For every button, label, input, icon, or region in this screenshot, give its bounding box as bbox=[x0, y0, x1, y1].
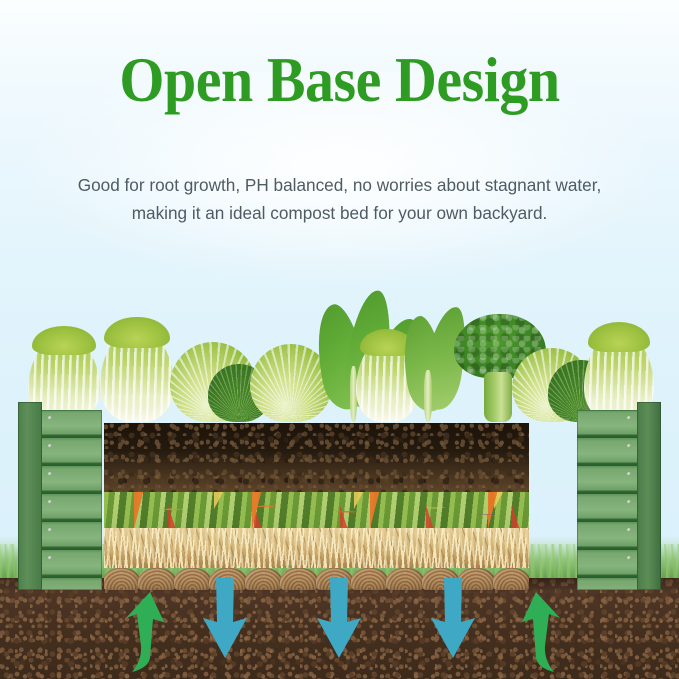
corner-post bbox=[637, 402, 661, 590]
subtitle-line-1: Good for root growth, PH balanced, no wo… bbox=[36, 172, 643, 200]
panel-ribbed-face bbox=[40, 410, 102, 590]
screw-icon bbox=[627, 472, 631, 476]
compost-cross-section bbox=[104, 423, 529, 590]
page-title: Open Base Design bbox=[27, 48, 652, 112]
log-piece bbox=[104, 568, 140, 590]
napa-cabbage bbox=[100, 330, 174, 422]
screw-icon bbox=[627, 444, 631, 448]
screw-icon bbox=[48, 528, 52, 532]
log-piece bbox=[138, 568, 175, 590]
layer-food-scraps bbox=[104, 492, 529, 528]
screw-icon bbox=[627, 500, 631, 504]
screw-icon bbox=[48, 444, 52, 448]
log-piece bbox=[493, 568, 529, 590]
screw-icon bbox=[627, 416, 631, 420]
subtitle-line-2: making it an ideal compost bed for your … bbox=[36, 200, 643, 228]
raised-garden-bed bbox=[18, 402, 661, 590]
open-base-design-poster: Open Base Design Good for root growth, P… bbox=[0, 0, 679, 679]
right-corner-post-panel bbox=[575, 402, 661, 590]
layer-topsoil bbox=[104, 423, 529, 492]
bok-choy-stem bbox=[424, 370, 432, 422]
corner-post bbox=[18, 402, 42, 590]
panel-ribbed-face bbox=[577, 410, 639, 590]
screw-icon bbox=[48, 556, 52, 560]
layer-straw bbox=[104, 528, 529, 568]
vegetable-row bbox=[18, 292, 661, 422]
screw-icon bbox=[48, 472, 52, 476]
log-piece bbox=[386, 568, 423, 590]
page-subtitle: Good for root growth, PH balanced, no wo… bbox=[0, 172, 679, 228]
left-corner-post-panel bbox=[18, 402, 104, 590]
screw-icon bbox=[627, 528, 631, 532]
screw-icon bbox=[627, 556, 631, 560]
broccoli-stalk bbox=[484, 372, 512, 422]
screw-icon bbox=[48, 500, 52, 504]
screw-icon bbox=[48, 416, 52, 420]
